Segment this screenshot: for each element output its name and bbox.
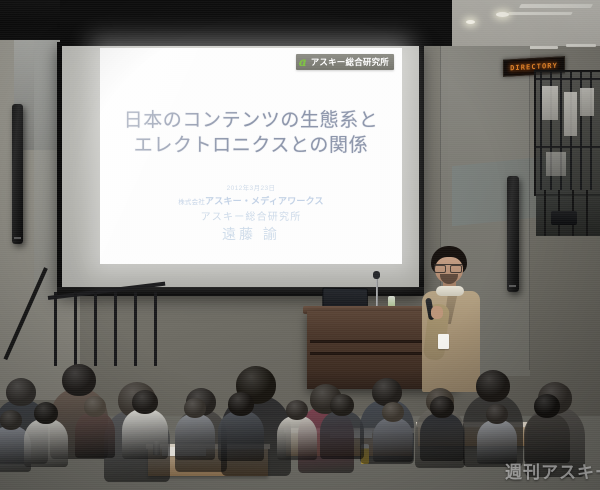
conference-photo: DIRECTORY a アスキー総合研究所 日本のコンテンツ (0, 0, 600, 490)
audience-member-head (6, 378, 36, 406)
audience-member-body (218, 411, 264, 461)
audience-member-head (132, 390, 158, 414)
audience-member-head (34, 402, 58, 424)
audience-member-body (320, 411, 364, 459)
slide-org-prefix: 株式会社 (178, 199, 205, 206)
publication-watermark: 週刊アスキー (505, 458, 600, 483)
slide-title: 日本のコンテンツの生態系と エレクトロニクスとの関係 (100, 108, 402, 158)
audience-member-head (330, 394, 354, 416)
audience-member-head (372, 378, 402, 406)
audience-member-body (420, 413, 464, 461)
slide-organization-division: アスキー総合研究所 (100, 208, 402, 223)
ceiling-downlight-2 (466, 20, 475, 24)
audience-member-head (0, 410, 22, 430)
ceiling-slot-4 (566, 44, 596, 47)
audience-member-head (228, 392, 254, 416)
ceiling-soffit (60, 0, 460, 46)
slide-speaker-name: 遠藤 諭 (100, 224, 402, 244)
audience-member-body (175, 414, 215, 460)
audience-member-body (277, 416, 317, 460)
slide-title-line-2: エレクトロニクスとの関係 (100, 133, 402, 158)
slide-logo-text: アスキー総合研究所 (311, 58, 389, 67)
ceiling-slot-2 (507, 12, 573, 15)
presenter-glasses (434, 264, 462, 271)
audience-member-body (122, 409, 168, 459)
slide-date: 2012年3月23日 (100, 182, 402, 192)
presenter-hand (431, 306, 443, 319)
audience-member-head (184, 398, 206, 418)
wall-seam-right (529, 60, 530, 370)
slide-org-company: アスキー・メディアワークス (205, 196, 324, 206)
wall-speaker-box (551, 211, 577, 225)
audience-member-head (430, 396, 454, 418)
audience-member-head (62, 364, 96, 396)
slide-title-line-1: 日本のコンテンツの生態系と (100, 108, 402, 133)
audience-member-head (476, 370, 510, 402)
ascii-a-mark-icon: a (299, 56, 307, 68)
ceiling-downlight-1 (496, 12, 509, 17)
audience-member-head (84, 396, 106, 417)
line-array-speaker-left (12, 104, 23, 244)
stairwell-cage (536, 72, 600, 190)
audience-member-body (524, 413, 570, 463)
audience-member-head (286, 400, 308, 420)
audience-member-head (382, 402, 404, 422)
slide-organization-company: 株式会社アスキー・メディアワークス (100, 194, 402, 207)
audience-member-body (477, 420, 517, 464)
ceiling-slot-1 (519, 4, 593, 8)
podium-microphone-head (373, 271, 380, 279)
audience-member-body (24, 419, 68, 467)
audience-member-head (486, 404, 508, 424)
audience-member-body (373, 418, 413, 462)
line-array-speaker-right (507, 176, 519, 292)
presenter-collar (436, 286, 464, 296)
slide-logo: a アスキー総合研究所 (296, 54, 394, 70)
audience-member-body (75, 412, 115, 458)
projected-image: a アスキー総合研究所 日本のコンテンツの生態系と エレクトロニクスとの関係 2… (100, 48, 402, 264)
audience-member-head (534, 394, 560, 418)
presentation-slide: a アスキー総合研究所 日本のコンテンツの生態系と エレクトロニクスとの関係 2… (100, 48, 402, 264)
